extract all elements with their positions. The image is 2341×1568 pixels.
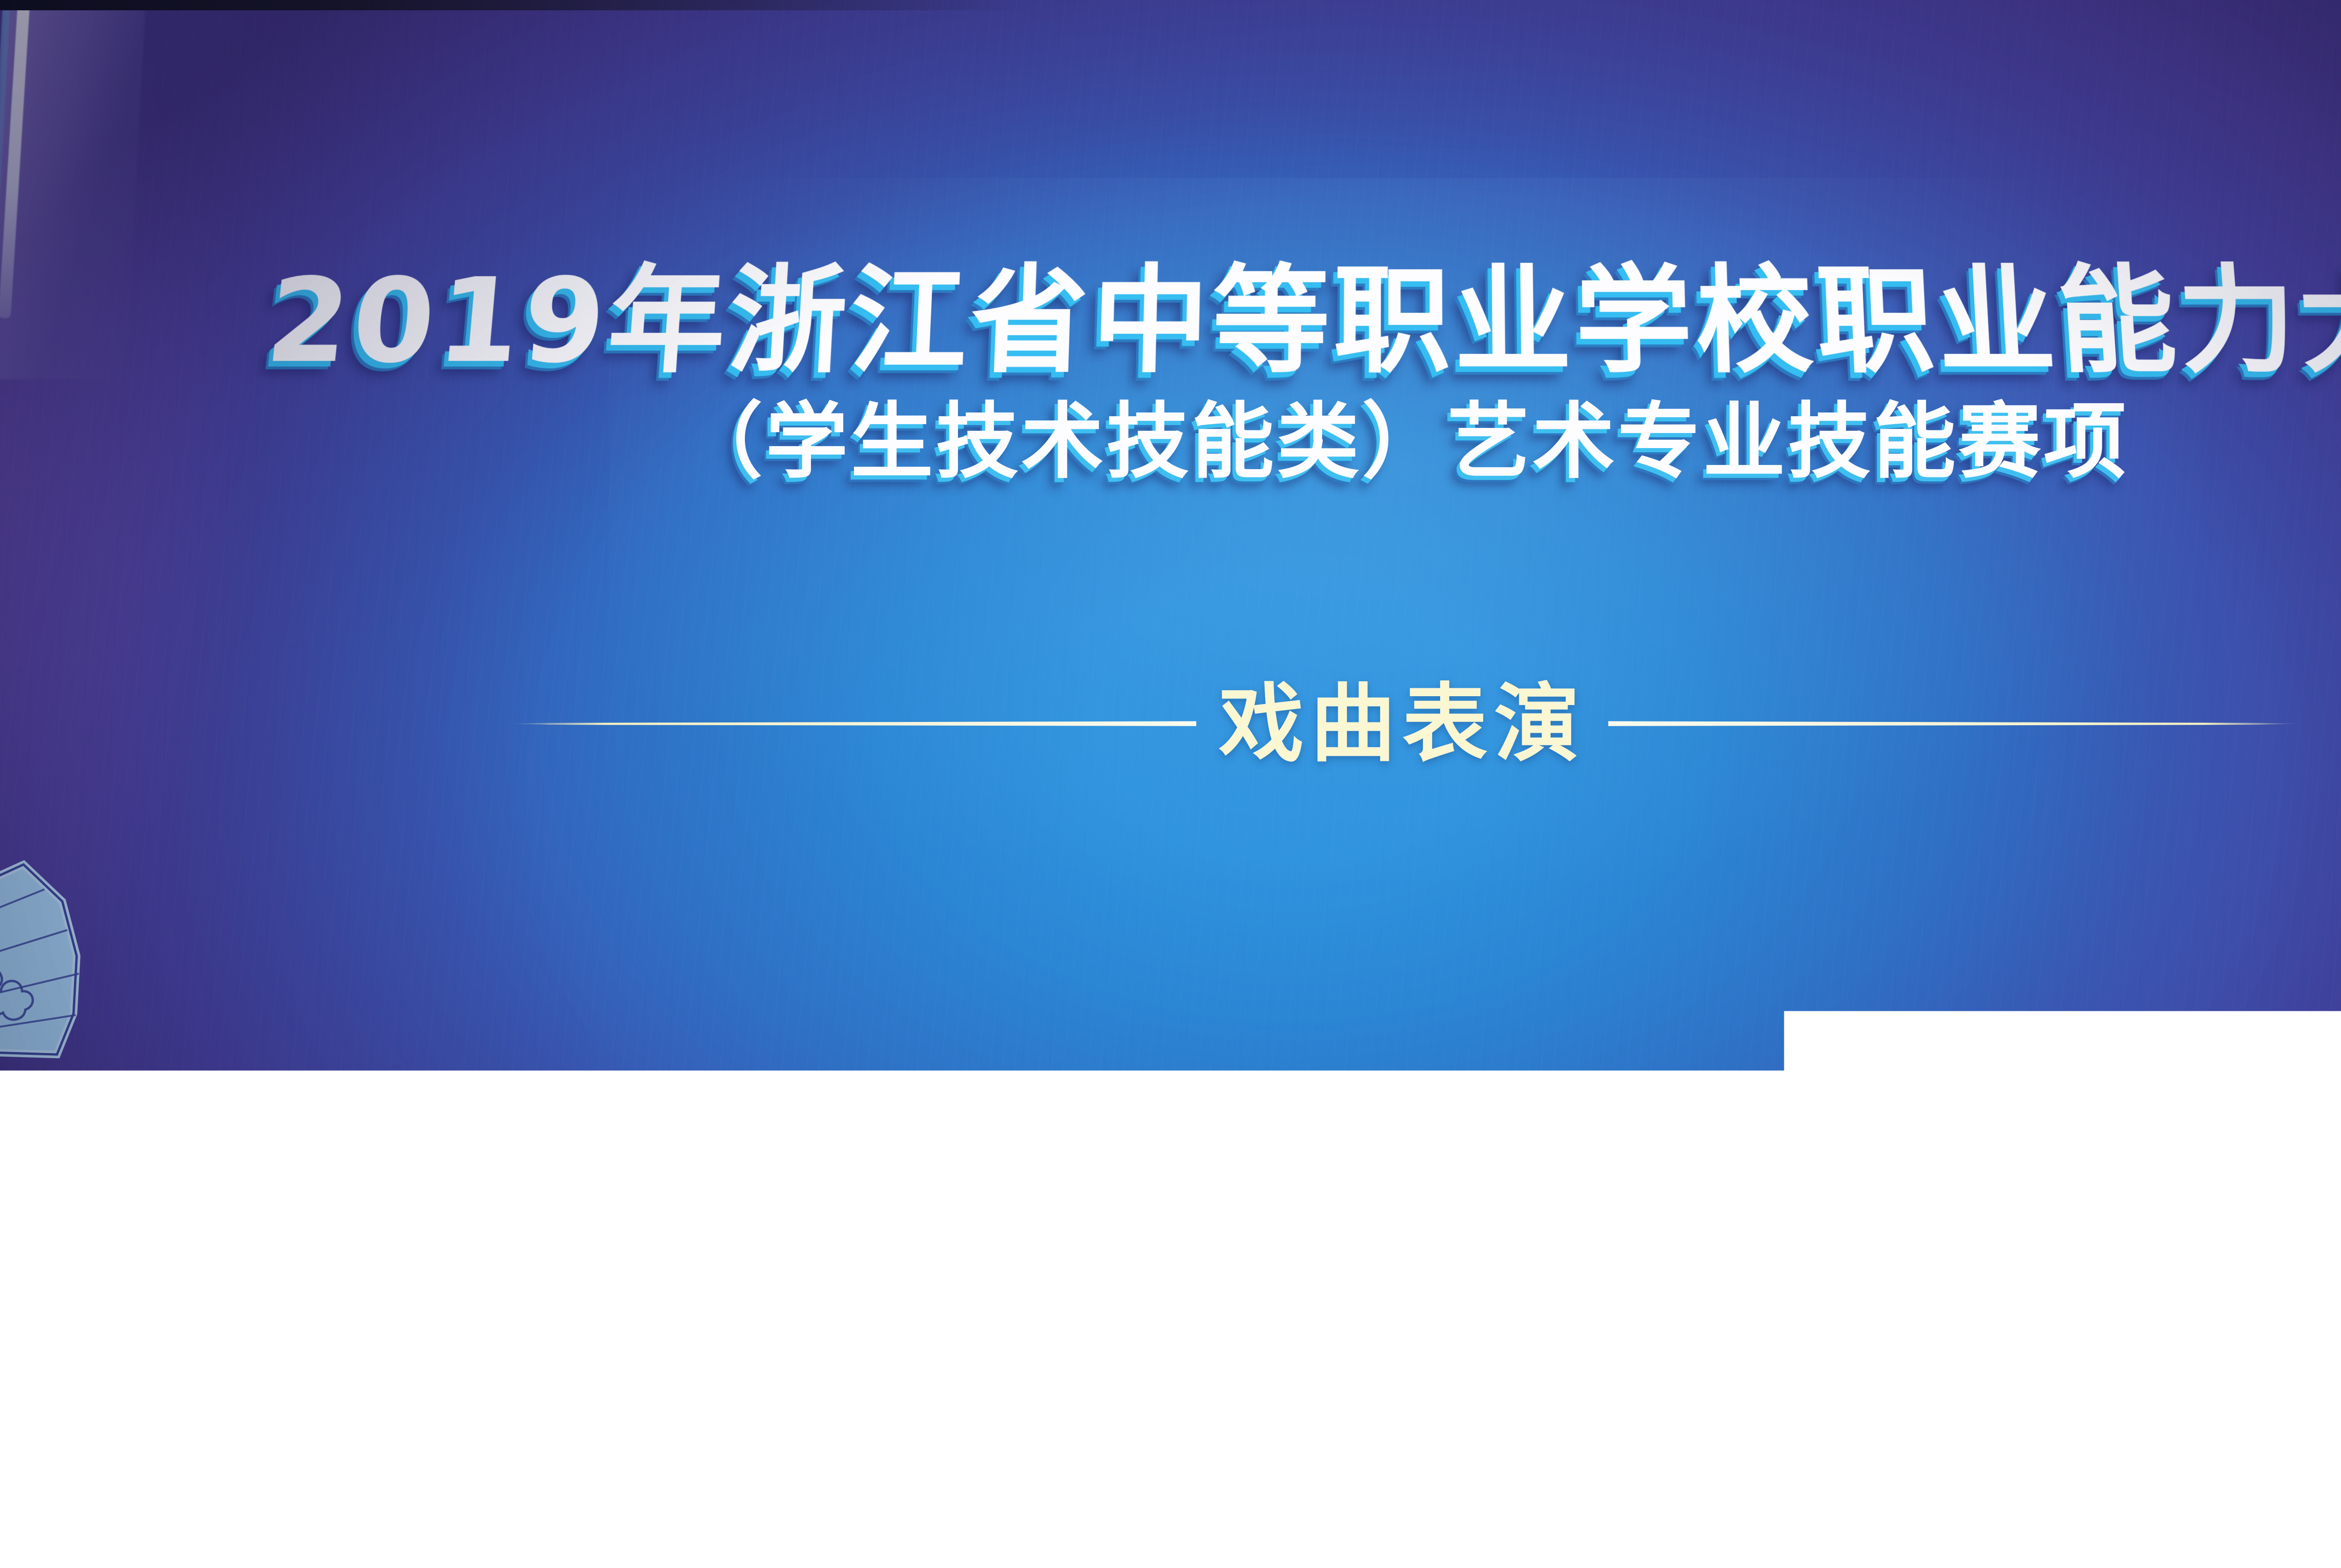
title-line-1: 2019年浙江省中等职业学校职业能力大赛 bbox=[0, 263, 2341, 379]
bottom-edge-shadow bbox=[0, 1556, 1405, 1568]
top-edge-shadow bbox=[0, 0, 1030, 10]
organizer-line-co-host: 承办单位：浙江艺术职业学院 bbox=[0, 1259, 2341, 1318]
organizer-line-research-office: 浙江省教育厅职成教教研室 bbox=[0, 1318, 2341, 1378]
subject-title: 戏曲表演 bbox=[1219, 681, 1586, 766]
decorative-rule-right bbox=[1608, 718, 2301, 730]
title-line-2: （学生技术技能类）艺术专业技能赛项 bbox=[0, 401, 2341, 483]
organizer-block: 主办单位：浙江省教育厅 承办单位：浙江艺术职业学院 浙江省教育厅职成教教研室 bbox=[0, 1199, 2341, 1378]
subject-row: 戏曲表演 bbox=[0, 681, 2341, 766]
banner-title-block: 2019年浙江省中等职业学校职业能力大赛 （学生技术技能类）艺术专业技能赛项 bbox=[0, 262, 2341, 483]
banner-backdrop: 2019年浙江省中等职业学校职业能力大赛 （学生技术技能类）艺术专业技能赛项 戏… bbox=[0, 0, 2341, 1568]
decorative-rule-left bbox=[508, 718, 1196, 730]
organizer-line-host: 主办单位：浙江省教育厅 bbox=[0, 1199, 2341, 1259]
